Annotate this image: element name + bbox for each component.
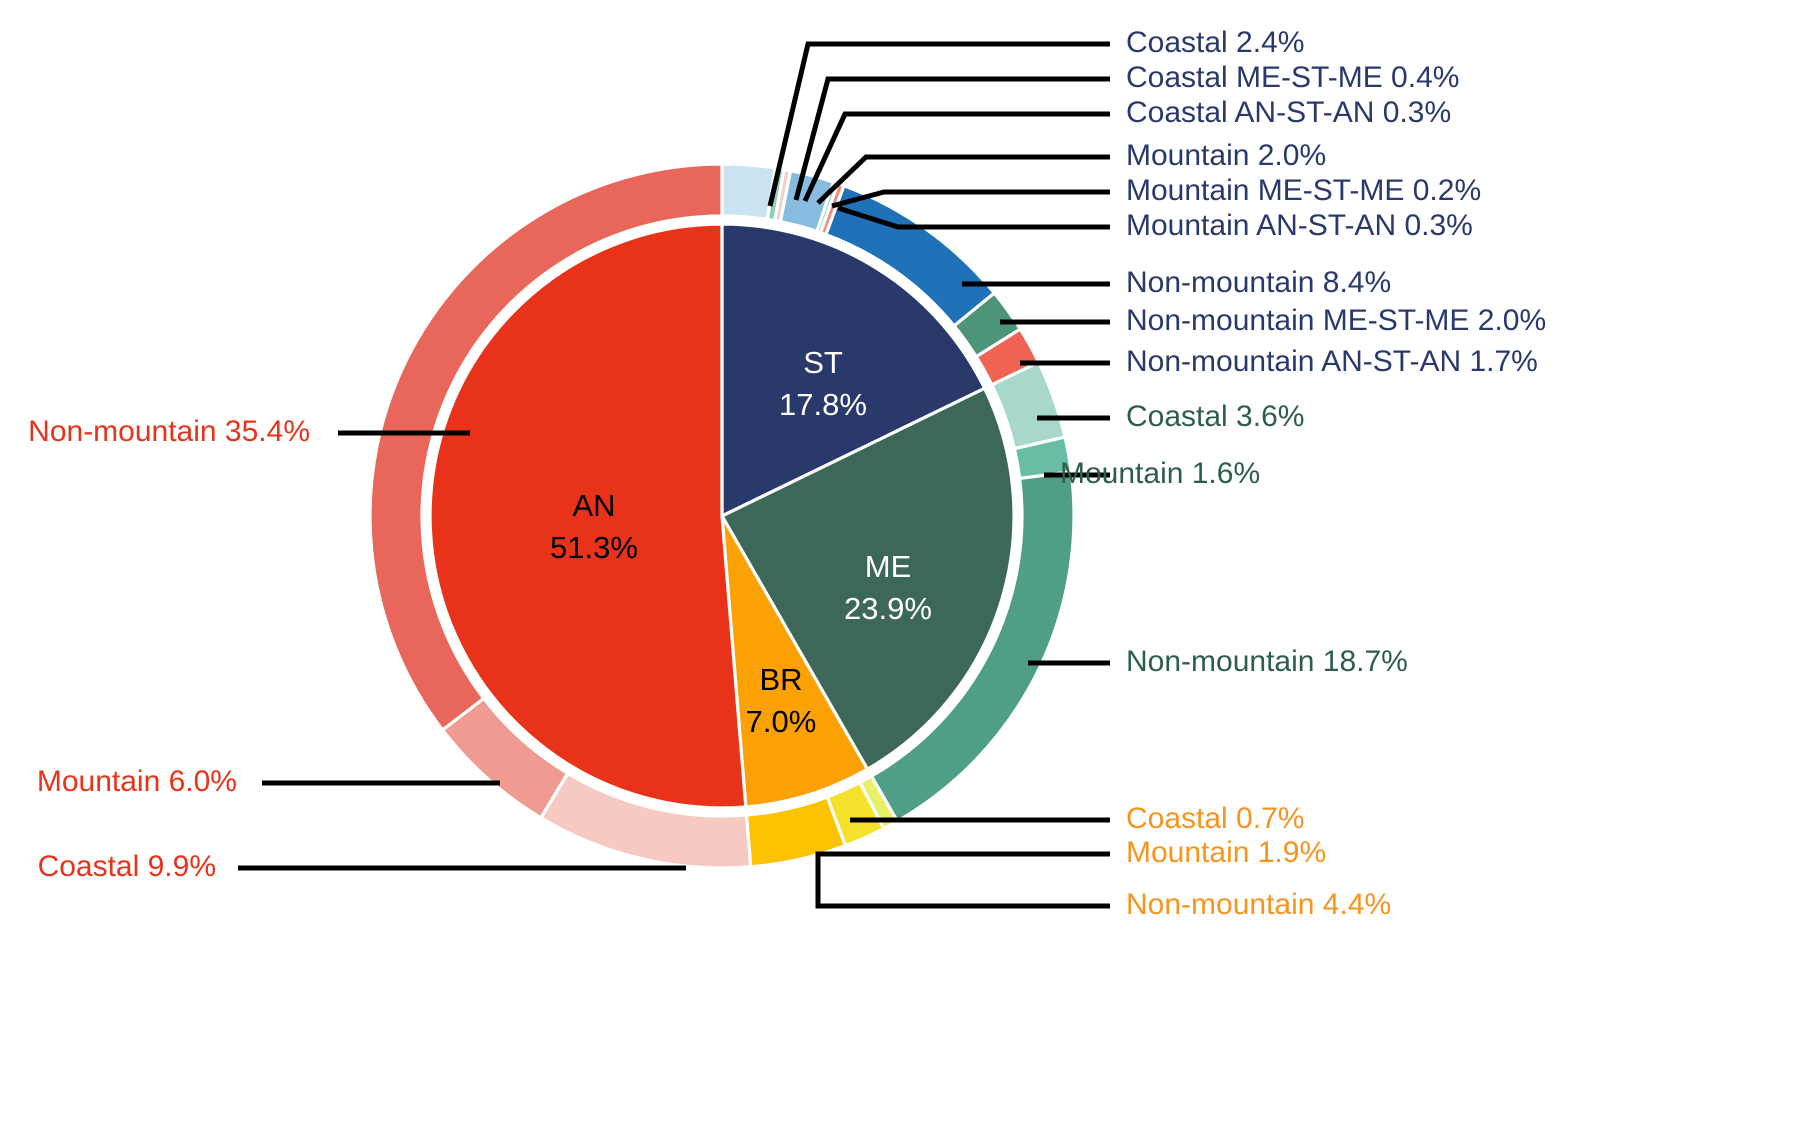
pie-chart-figure: Coastal 2.4%Coastal ME-ST-ME 0.4%Coastal… bbox=[0, 0, 1794, 1121]
callout-label-non-mountain-an-st-an-1-7-: Non-mountain AN-ST-AN 1.7% bbox=[1126, 345, 1538, 378]
callout-label-mountain-1-9-: Mountain 1.9% bbox=[1126, 836, 1326, 869]
callout-label-mountain-me-st-me-0-2-: Mountain ME-ST-ME 0.2% bbox=[1126, 174, 1481, 207]
callout-label-coastal-0-7-: Coastal 0.7% bbox=[1126, 802, 1304, 835]
callout-label-non-mountain-4-4-: Non-mountain 4.4% bbox=[1126, 888, 1391, 921]
callout-label-mountain-6-0-: Mountain 6.0% bbox=[37, 765, 237, 798]
callout-label-coastal-an-st-an-0-3-: Coastal AN-ST-AN 0.3% bbox=[1126, 96, 1451, 129]
leader-line-14 bbox=[818, 880, 1110, 906]
callout-label-mountain-1-6-: Mountain 1.6% bbox=[1060, 457, 1260, 490]
callout-label-non-mountain-8-4-: Non-mountain 8.4% bbox=[1126, 266, 1391, 299]
callout-label-mountain-2-0-: Mountain 2.0% bbox=[1126, 139, 1326, 172]
leader-line-13 bbox=[818, 854, 1110, 880]
callout-label-coastal-3-6-: Coastal 3.6% bbox=[1126, 400, 1304, 433]
inner-ring-group bbox=[430, 224, 1014, 808]
chart-canvas: Coastal 2.4%Coastal ME-ST-ME 0.4%Coastal… bbox=[0, 0, 1794, 1121]
callout-label-mountain-an-st-an-0-3-: Mountain AN-ST-AN 0.3% bbox=[1126, 209, 1473, 242]
callout-label-non-mountain-35-4-: Non-mountain 35.4% bbox=[28, 415, 310, 448]
callout-label-coastal-me-st-me-0-4-: Coastal ME-ST-ME 0.4% bbox=[1126, 61, 1459, 94]
callout-label-coastal-9-9-: Coastal 9.9% bbox=[38, 850, 216, 883]
callout-label-coastal-2-4-: Coastal 2.4% bbox=[1126, 26, 1304, 59]
callout-label-non-mountain-18-7-: Non-mountain 18.7% bbox=[1126, 645, 1408, 678]
callout-label-non-mountain-me-st-me-2-0-: Non-mountain ME-ST-ME 2.0% bbox=[1126, 304, 1546, 337]
